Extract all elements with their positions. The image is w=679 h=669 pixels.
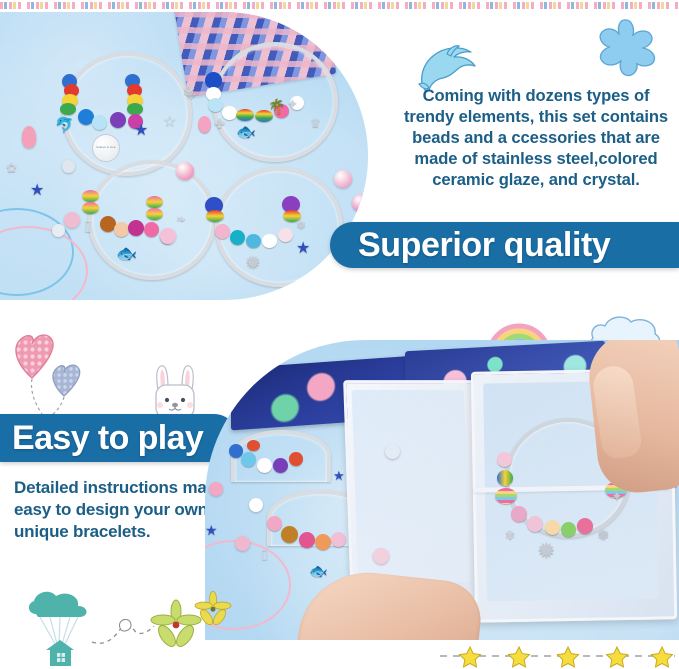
banner-easy-to-play-label: Easy to play [0,421,203,455]
mermaid-tail-charm-icon: 🐟 [116,244,137,264]
star-charm-icon: ★ [30,180,44,200]
bead [545,520,560,535]
dotted-border-yellow-icon [13,2,679,9]
paw-charm-icon: ✿ [6,160,17,176]
bead [144,222,159,237]
bead [289,452,303,466]
star-charm-icon: ★ [205,522,218,539]
cloud-blob-icon [576,16,674,80]
product-photo-gift-case-in-hands: ★ ▯ 🐟 ★ ✾ ❅ ✦ ✹ [205,340,679,640]
star-charm-icon: ★ [333,468,345,484]
loose-bead [64,212,80,228]
bead [257,458,272,473]
bead [267,516,282,531]
bead [497,470,513,486]
palm-tree-charm-icon: 🌴 [268,98,285,115]
bead [230,230,245,245]
rainbow-bead [236,109,254,121]
loose-bead [160,228,176,244]
mermaid-tail-charm-icon: 🐟 [236,122,256,142]
snowflake-charm-icon: ❈ [186,88,196,102]
star-charm-icon: ✦ [611,488,623,505]
sun-burst-charm-icon: ✹ [245,252,261,275]
bead [208,98,223,112]
bunny-face-icon [146,360,204,418]
top-description-text: Coming with dozens types of trendy eleme… [400,86,672,191]
bead [331,532,346,547]
loose-bead [52,224,65,237]
loose-bead [385,444,400,459]
bead [527,516,543,532]
star-outline-charm-icon: ☆ [163,112,176,130]
cross-charm-icon: ✦ [287,96,298,112]
mermaid-tail-charm-icon: 🐟 [309,562,328,580]
cloud-house-balloon-icon [22,588,100,666]
bangle-4 [215,167,343,287]
loose-bead [249,498,263,512]
clover-charm-icon: ✤ [214,116,225,132]
star-charm-icon: ★ [134,120,148,140]
bead [299,532,315,548]
bead [497,452,512,467]
snowflake-charm-icon: ❅ [296,218,306,232]
bead [128,220,144,236]
loose-bead [373,548,389,564]
bead [281,526,298,543]
product-feature-panel: believe in love 🐬 ★ ☆ ✾ ✤ 🐟 🌴 ✦ ♛ ▯ 🐟 [0,0,679,669]
bead [247,440,260,451]
rainbow-bead [146,196,163,208]
rainbow-bead [206,210,224,222]
flower-charm-icon: ✾ [505,528,515,542]
bead [246,234,261,248]
engraved-charm-disc: believe in love [92,134,120,162]
loose-bead [334,170,352,188]
star-charm-icon: ★ [296,238,310,258]
bottle-charm-icon: ▯ [84,217,92,234]
banner-easy-to-play: Easy to play [0,414,238,462]
rainbow-bead [82,202,99,214]
bead [561,522,576,537]
bead [215,224,230,239]
bead [273,458,288,473]
loose-bead [209,482,223,496]
rainbow-bead [146,208,163,220]
product-photo-bracelets-flatlay: believe in love 🐬 ★ ☆ ✾ ✤ 🐟 🌴 ✦ ♛ ▯ 🐟 [0,12,368,300]
bead [511,506,527,522]
rainbow-bead [495,488,517,504]
sun-burst-charm-icon: ✹ [537,538,555,564]
loose-bead [235,536,250,551]
loose-bead [62,160,75,173]
bead [262,234,277,248]
gift-case-lid-window [352,390,471,582]
bead [241,452,256,467]
flower-trail-icon [90,596,235,658]
snowflake-charm-icon: ❅ [597,526,610,544]
bead [198,116,211,133]
bead [92,115,107,130]
leaf-charm-icon: ❧ [176,212,186,226]
bead [110,112,126,128]
loose-bead [22,126,36,148]
dolphin-charm-icon: 🐬 [55,116,74,134]
loose-bead [352,194,368,212]
bead [577,518,593,534]
bead [315,534,331,550]
heart-balloon-group [8,318,98,418]
bead [114,222,129,237]
bead [278,228,293,242]
loose-bead [176,162,194,180]
crown-charm-icon: ♛ [310,116,321,130]
rainbow-bead [82,190,99,202]
bead [60,103,76,115]
banner-superior-quality-label: Superior quality [330,228,610,262]
star-dash-icon [440,645,675,665]
banner-superior-quality: Superior quality [330,222,679,268]
